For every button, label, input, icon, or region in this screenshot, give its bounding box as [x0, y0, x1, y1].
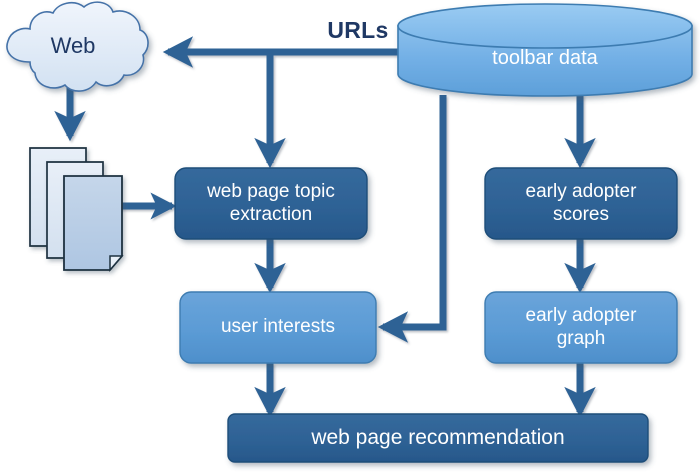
edge-label-urls: URLs — [316, 13, 400, 47]
node-toolbar-data[interactable] — [398, 4, 692, 96]
diagram-svg — [0, 0, 700, 474]
node-web-page-topic-extraction[interactable] — [175, 168, 367, 239]
node-web-page-recommendation[interactable] — [228, 414, 648, 462]
node-early-adopter-scores[interactable] — [485, 168, 677, 239]
document-fold — [110, 256, 122, 270]
node-web-pages[interactable] — [30, 148, 122, 270]
edge-toolbar-to-interests — [383, 95, 443, 327]
cylinder-top — [398, 4, 692, 48]
diagram-canvas: Web URLs toolbar data web page topic ext… — [0, 0, 700, 474]
node-label-web-cloud: Web — [8, 26, 138, 66]
node-early-adopter-graph[interactable] — [485, 292, 677, 363]
node-user-interests[interactable] — [180, 292, 376, 363]
